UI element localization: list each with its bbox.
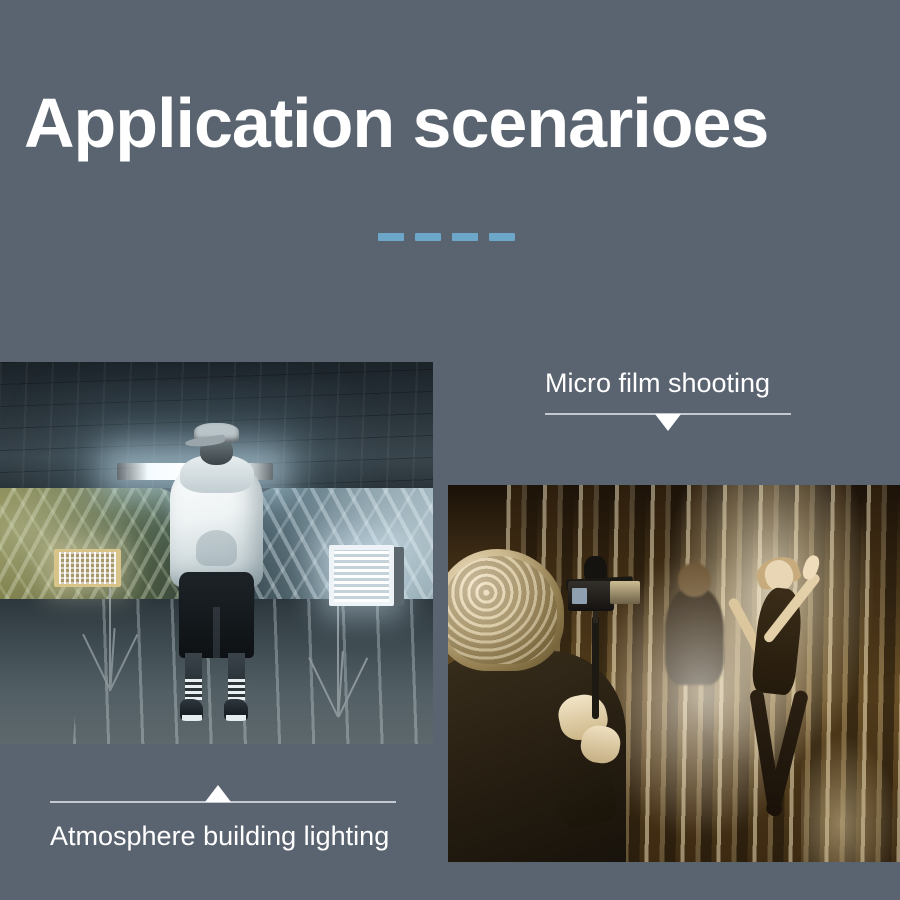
page-title: Application scenarioes <box>24 88 884 158</box>
triangle-up-icon <box>205 785 231 802</box>
callout-atmosphere-building-lighting: Atmosphere building lighting <box>50 786 396 851</box>
divider-dash-4 <box>489 233 515 241</box>
stage-dancer <box>728 560 836 839</box>
callout-label-atmosphere-building-lighting: Atmosphere building lighting <box>50 821 396 851</box>
camera-screen <box>572 588 587 604</box>
model-cap <box>194 423 238 442</box>
stage-scene <box>448 485 900 862</box>
divider-dash-2 <box>415 233 441 241</box>
divider-dash-1 <box>378 233 404 241</box>
stage-photo <box>448 485 900 862</box>
triangle-down-icon <box>655 414 681 431</box>
model-sock-right <box>228 679 245 700</box>
handheld-gimbal-rig <box>548 542 649 718</box>
led-panel-light-cool <box>329 545 394 606</box>
model-shoe-right <box>224 699 247 721</box>
led-panel-grid <box>59 552 115 584</box>
right-light-tripod <box>305 603 370 718</box>
callout-rule <box>545 413 791 415</box>
callout-rule <box>50 801 396 803</box>
divider-dash-3 <box>452 233 478 241</box>
callout-label-micro-film-shooting: Micro film shooting <box>545 368 791 398</box>
dash-divider <box>378 233 515 241</box>
gimbal-handle <box>592 616 599 718</box>
tunnel-photo <box>0 362 433 744</box>
model-shorts <box>179 572 254 658</box>
led-panel-grid <box>334 550 389 601</box>
left-light-tripod <box>82 584 138 691</box>
tunnel-scene <box>0 362 433 744</box>
tripod-leg-b <box>308 657 338 717</box>
application-scenarios-page: { "page": { "background_color": "#5a6470… <box>0 0 900 900</box>
led-panel-light-warm <box>54 549 121 587</box>
callout-micro-film-shooting: Micro film shooting <box>545 368 791 415</box>
model-sock-left <box>185 679 202 700</box>
tunnel-model-figure <box>152 423 282 721</box>
camera-operator <box>448 549 710 862</box>
camera-lens <box>610 581 640 604</box>
model-shoe-left <box>180 699 203 721</box>
tripod-leg-b <box>83 634 112 690</box>
